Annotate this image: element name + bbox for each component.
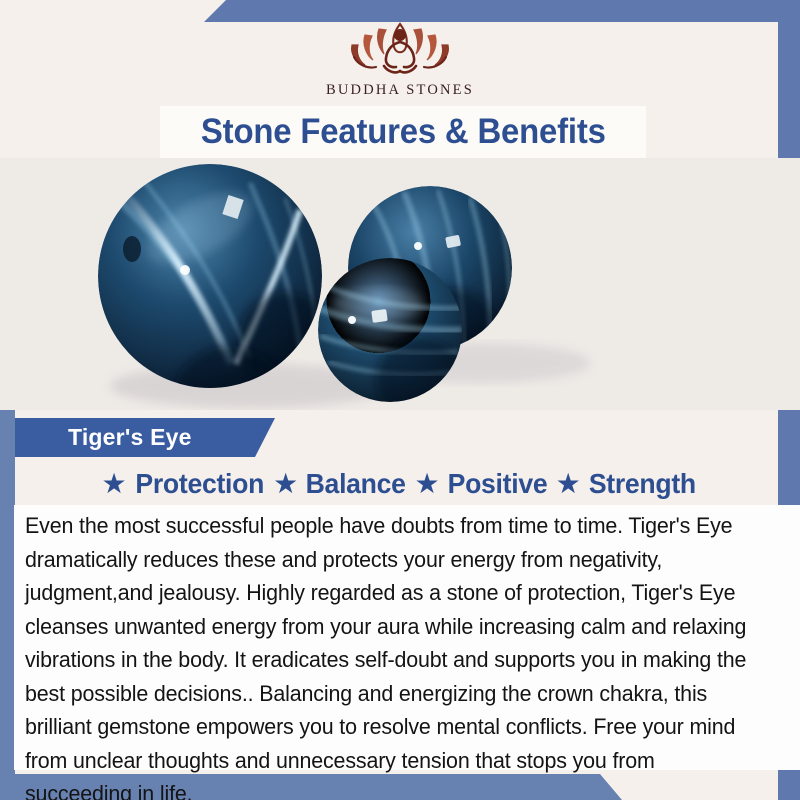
star-icon: ★ — [556, 470, 581, 498]
stone-photo-illustration — [0, 158, 800, 410]
infographic-poster: BUDDHA STONES Stone Features & Benefits — [0, 0, 800, 800]
lotus-meditation-icon — [334, 14, 466, 80]
description-box: Even the most successful people have dou… — [14, 505, 800, 770]
star-icon: ★ — [415, 470, 440, 498]
stone-name: Tiger's Eye — [15, 424, 192, 451]
page-title: Stone Features & Benefits — [201, 112, 606, 152]
benefit-label: Strength — [589, 468, 696, 500]
benefit-label: Balance — [306, 468, 406, 500]
page-title-box: Stone Features & Benefits — [160, 106, 646, 158]
description-text: Even the most successful people have dou… — [25, 509, 759, 800]
benefit-label: Protection — [135, 468, 264, 500]
benefit-item-protection: ★ Protection — [102, 468, 268, 500]
benefit-label: Positive — [447, 468, 547, 500]
brand-logo: BUDDHA STONES — [0, 14, 800, 106]
benefit-item-strength: ★ Strength — [556, 468, 699, 500]
benefits-row: ★ Protection ★ Balance ★ Positive ★ Stre… — [0, 462, 800, 506]
brand-name: BUDDHA STONES — [326, 82, 474, 99]
stone-photo — [0, 158, 800, 410]
star-icon: ★ — [273, 470, 298, 498]
benefit-item-balance: ★ Balance — [273, 468, 408, 500]
stone-name-ribbon: Tiger's Eye — [15, 418, 275, 457]
benefit-item-positive: ★ Positive — [415, 468, 550, 500]
star-icon: ★ — [102, 470, 127, 498]
